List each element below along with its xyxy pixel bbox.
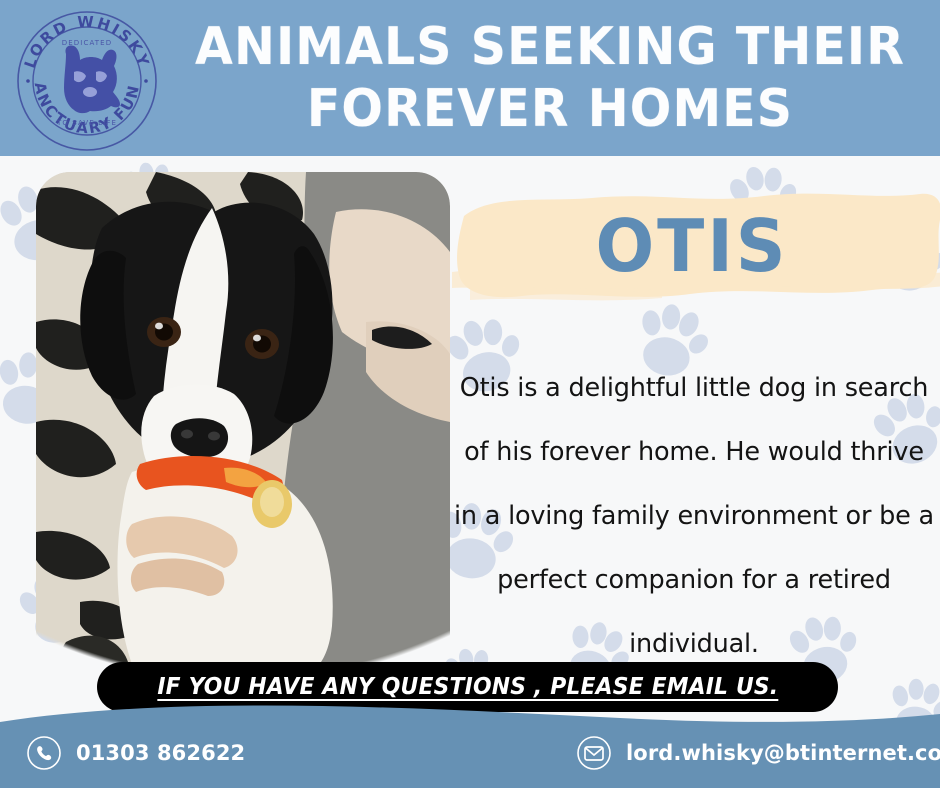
- footer-email[interactable]: lord.whisky@btinternet.com: [576, 718, 940, 788]
- adoption-poster: LORD WHISKY SANCTUARY FUND DEDICATED TO …: [0, 0, 940, 788]
- page-title-line1: ANIMALS SEEKING THEIR: [195, 17, 905, 77]
- footer-phone[interactable]: 01303 862622: [26, 718, 245, 788]
- animal-name: OTIS: [462, 204, 923, 288]
- footer-phone-number: 01303 862622: [76, 741, 245, 765]
- page-title-line2: FOREVER HOMES: [195, 78, 906, 140]
- animal-photo: [36, 172, 450, 682]
- page-title: ANIMALS SEEKING THEIR FOREVER HOMES: [195, 16, 906, 140]
- animal-description: Otis is a delightful little dog in searc…: [452, 356, 936, 676]
- logo-inner-bottom-text: TO SAVE LIFE: [56, 119, 117, 127]
- animal-photo-image: [36, 172, 450, 682]
- envelope-icon: [576, 735, 612, 771]
- footer-email-address: lord.whisky@btinternet.com: [626, 741, 940, 765]
- dog-emblem-icon: [64, 45, 120, 113]
- lord-whisky-logo: LORD WHISKY SANCTUARY FUND DEDICATED TO …: [16, 10, 158, 152]
- phone-icon: [26, 735, 62, 771]
